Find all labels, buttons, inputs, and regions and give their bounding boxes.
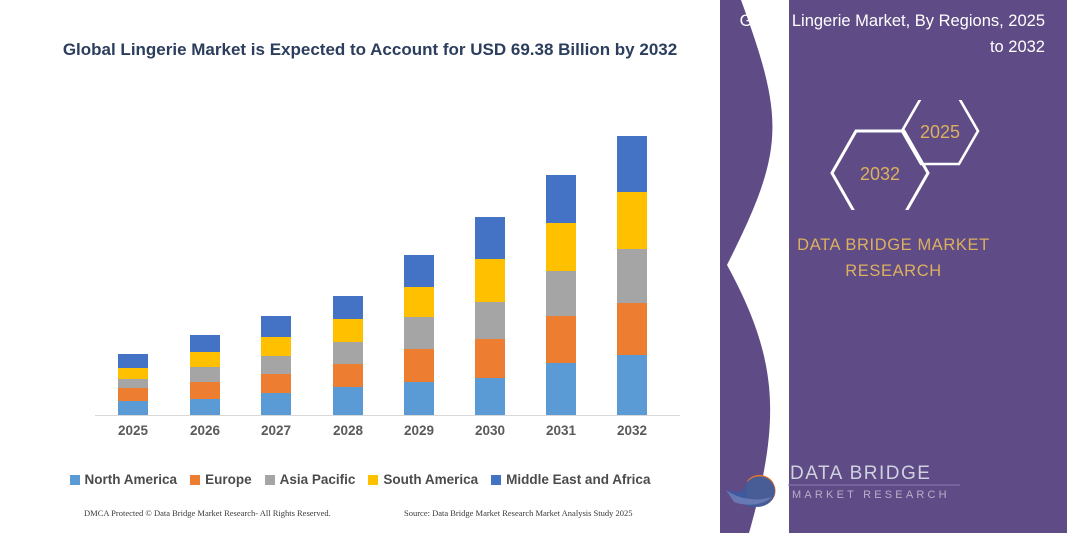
bar-segment bbox=[118, 379, 148, 388]
legend-item[interactable]: North America bbox=[70, 472, 178, 487]
company-logo-svg: DATA BRIDGE MARKET RESEARCH bbox=[720, 451, 1067, 511]
bar-segment bbox=[546, 363, 576, 415]
bar-segment bbox=[475, 259, 505, 302]
bar-segment bbox=[404, 382, 434, 415]
logo-name-line-1: DATA BRIDGE bbox=[790, 463, 931, 484]
footer-source: Source: Data Bridge Market Research Mark… bbox=[404, 508, 633, 518]
legend-label: North America bbox=[85, 472, 178, 487]
bar-segment bbox=[190, 382, 220, 399]
bar-segment bbox=[261, 374, 291, 393]
bar-segment bbox=[333, 364, 363, 387]
bar-segment bbox=[617, 249, 647, 303]
x-axis-tick-label: 2030 bbox=[460, 423, 520, 438]
bar-segment bbox=[333, 387, 363, 415]
bar-segment bbox=[261, 356, 291, 374]
bar-segment bbox=[118, 401, 148, 415]
bar-segment bbox=[118, 388, 148, 401]
bar-segment bbox=[190, 367, 220, 382]
bar-segment bbox=[617, 303, 647, 355]
brand-line-2: RESEARCH bbox=[720, 258, 1067, 284]
logo-b-mark-icon bbox=[726, 459, 776, 507]
bar-segment bbox=[404, 349, 434, 382]
bar-segment bbox=[546, 271, 576, 316]
legend-item[interactable]: Middle East and Africa bbox=[491, 472, 650, 487]
x-axis-line bbox=[95, 415, 680, 416]
bar-segment bbox=[261, 316, 291, 337]
legend-swatch-icon bbox=[190, 475, 200, 485]
bar-segment bbox=[404, 255, 434, 287]
legend-item[interactable]: Europe bbox=[190, 472, 252, 487]
bar-segment bbox=[190, 399, 220, 415]
footer-copyright: DMCA Protected © Data Bridge Market Rese… bbox=[84, 508, 331, 518]
bar-segment bbox=[261, 393, 291, 415]
bar-segment bbox=[617, 192, 647, 249]
bar-segment bbox=[118, 368, 148, 379]
bar-segment bbox=[118, 354, 148, 368]
legend-label: Middle East and Africa bbox=[506, 472, 650, 487]
bar-segment bbox=[475, 339, 505, 378]
bar-segment bbox=[546, 316, 576, 363]
bar-segment bbox=[546, 223, 576, 271]
legend-item[interactable]: South America bbox=[368, 472, 478, 487]
x-axis-tick-label: 2029 bbox=[389, 423, 449, 438]
infographic-canvas: Global Lingerie Market is Expected to Ac… bbox=[0, 0, 1067, 533]
right-side-panel: Global Lingerie Market, By Regions, 2025… bbox=[720, 0, 1067, 533]
bar-segment bbox=[475, 217, 505, 259]
bar-segment bbox=[190, 352, 220, 367]
bar-segment bbox=[617, 355, 647, 415]
hexagon-small-label: 2025 bbox=[920, 122, 960, 142]
brand-name: DATA BRIDGE MARKET RESEARCH bbox=[720, 232, 1067, 284]
bar-segment bbox=[333, 319, 363, 342]
legend-swatch-icon bbox=[265, 475, 275, 485]
hexagon-large-label: 2032 bbox=[860, 164, 900, 184]
hexagon-group: 2025 2032 bbox=[720, 100, 1067, 210]
bar-segment bbox=[475, 378, 505, 415]
bar-segment bbox=[404, 287, 434, 317]
x-axis-tick-label: 2031 bbox=[531, 423, 591, 438]
panel-title: Global Lingerie Market, By Regions, 2025… bbox=[738, 8, 1045, 60]
brand-line-1: DATA BRIDGE MARKET bbox=[720, 232, 1067, 258]
legend-label: South America bbox=[383, 472, 478, 487]
bar-segment bbox=[333, 342, 363, 364]
hexagon-svg: 2025 2032 bbox=[720, 100, 1067, 210]
x-axis-tick-label: 2032 bbox=[602, 423, 662, 438]
x-axis-tick-label: 2028 bbox=[318, 423, 378, 438]
legend-swatch-icon bbox=[491, 475, 501, 485]
company-logo: DATA BRIDGE MARKET RESEARCH bbox=[720, 451, 1067, 511]
bar-segment bbox=[333, 296, 363, 319]
legend-label: Europe bbox=[205, 472, 252, 487]
bar-segment bbox=[617, 136, 647, 192]
bar-segment bbox=[404, 317, 434, 349]
logo-name-line-2: MARKET RESEARCH bbox=[792, 489, 950, 501]
panel-title-text: Global Lingerie Market, By Regions, 2025… bbox=[740, 12, 1045, 56]
bar-segment bbox=[261, 337, 291, 356]
bar-segment bbox=[546, 175, 576, 223]
bar-segment bbox=[475, 302, 505, 339]
legend-item[interactable]: Asia Pacific bbox=[265, 472, 356, 487]
legend-label: Asia Pacific bbox=[280, 472, 356, 487]
x-axis-tick-label: 2027 bbox=[246, 423, 306, 438]
legend-swatch-icon bbox=[368, 475, 378, 485]
x-axis-tick-label: 2025 bbox=[103, 423, 163, 438]
bar-segment bbox=[190, 335, 220, 352]
chart-legend: North AmericaEuropeAsia PacificSouth Ame… bbox=[0, 472, 720, 487]
stacked-bar-chart: 20252026202720282029203020312032 bbox=[0, 0, 720, 470]
legend-swatch-icon bbox=[70, 475, 80, 485]
x-axis-tick-label: 2026 bbox=[175, 423, 235, 438]
